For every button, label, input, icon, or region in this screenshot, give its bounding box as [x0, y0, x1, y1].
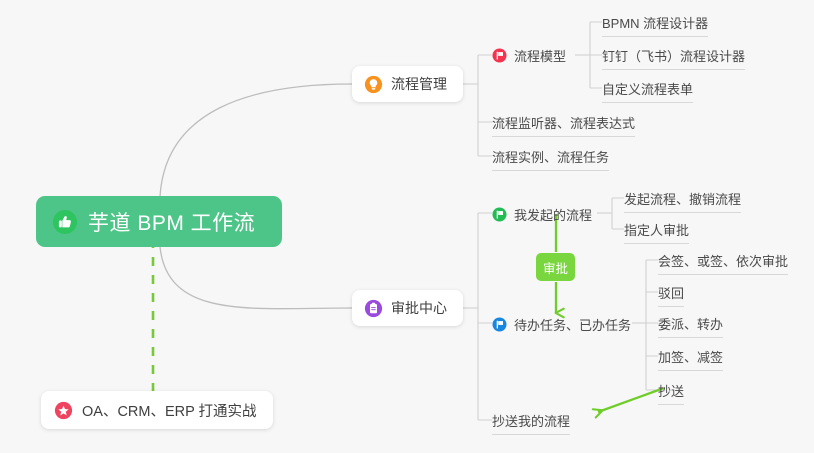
leaf-node-assignee-approval[interactable]: 指定人审批 [624, 220, 689, 244]
leaf-node-copied-to-me[interactable]: 抄送我的流程 [492, 411, 570, 435]
branch-label: 流程管理 [391, 74, 447, 94]
sub-node-my-initiated[interactable]: 我发起的流程 [492, 205, 592, 224]
root-label: 芋道 BPM 工作流 [88, 207, 255, 237]
edge-pmodel-branches [590, 22, 602, 88]
edge-root-to-approval-center [160, 247, 352, 309]
edge-pm-branches [478, 55, 492, 156]
sub-node-process-model[interactable]: 流程模型 [492, 46, 566, 65]
lightbulb-icon [364, 75, 383, 94]
branch-node-approval-center[interactable]: 审批中心 [352, 290, 463, 326]
note-node-integration[interactable]: OA、CRM、ERP 打通实战 [41, 391, 273, 429]
thumbs-up-icon [52, 209, 78, 235]
clipboard-icon [364, 299, 383, 318]
sub-label: 流程模型 [514, 46, 566, 65]
sub-node-todo-done-tasks[interactable]: 待办任务、已办任务 [492, 315, 631, 334]
flow-arrow-copy-to-mycopy [598, 388, 664, 412]
leaf-node-dingtalk-designer[interactable]: 钉钉（飞书）流程设计器 [602, 46, 745, 70]
leaf-node-delegate-transfer[interactable]: 委派、转办 [658, 314, 723, 338]
leaf-node-copy-to[interactable]: 抄送 [658, 381, 684, 405]
leaf-node-instance-task[interactable]: 流程实例、流程任务 [492, 147, 609, 171]
edge-root-to-process-management [160, 84, 352, 197]
edge-ac-branches [478, 213, 492, 420]
leaf-node-reject[interactable]: 驳回 [658, 283, 684, 307]
flag-icon [492, 207, 507, 222]
flag-icon [492, 48, 507, 63]
note-label: OA、CRM、ERP 打通实战 [82, 400, 257, 421]
leaf-node-start-cancel[interactable]: 发起流程、撤销流程 [624, 189, 741, 213]
leaf-node-listener-expression[interactable]: 流程监听器、流程表达式 [492, 113, 635, 137]
approval-flow-badge: 审批 [536, 253, 575, 281]
flag-icon [492, 317, 507, 332]
branch-node-process-management[interactable]: 流程管理 [352, 66, 463, 102]
sub-label: 待办任务、已办任务 [514, 315, 631, 334]
leaf-node-add-remove-sign[interactable]: 加签、减签 [658, 347, 723, 371]
star-icon [54, 401, 73, 420]
badge-label: 审批 [543, 258, 568, 277]
edge-todo-branches [646, 260, 658, 390]
branch-label: 审批中心 [391, 298, 447, 318]
root-node[interactable]: 芋道 BPM 工作流 [36, 196, 282, 247]
edge-mine-branches [612, 198, 624, 229]
leaf-node-custom-form[interactable]: 自定义流程表单 [602, 79, 693, 103]
leaf-node-bpmn-designer[interactable]: BPMN 流程设计器 [602, 13, 708, 37]
mindmap-canvas: 芋道 BPM 工作流 流程管理 流程模型 BPMN 流程设计器 钉钉（飞书）流程… [0, 0, 814, 453]
leaf-node-countersign[interactable]: 会签、或签、依次审批 [658, 251, 788, 275]
sub-label: 我发起的流程 [514, 205, 592, 224]
